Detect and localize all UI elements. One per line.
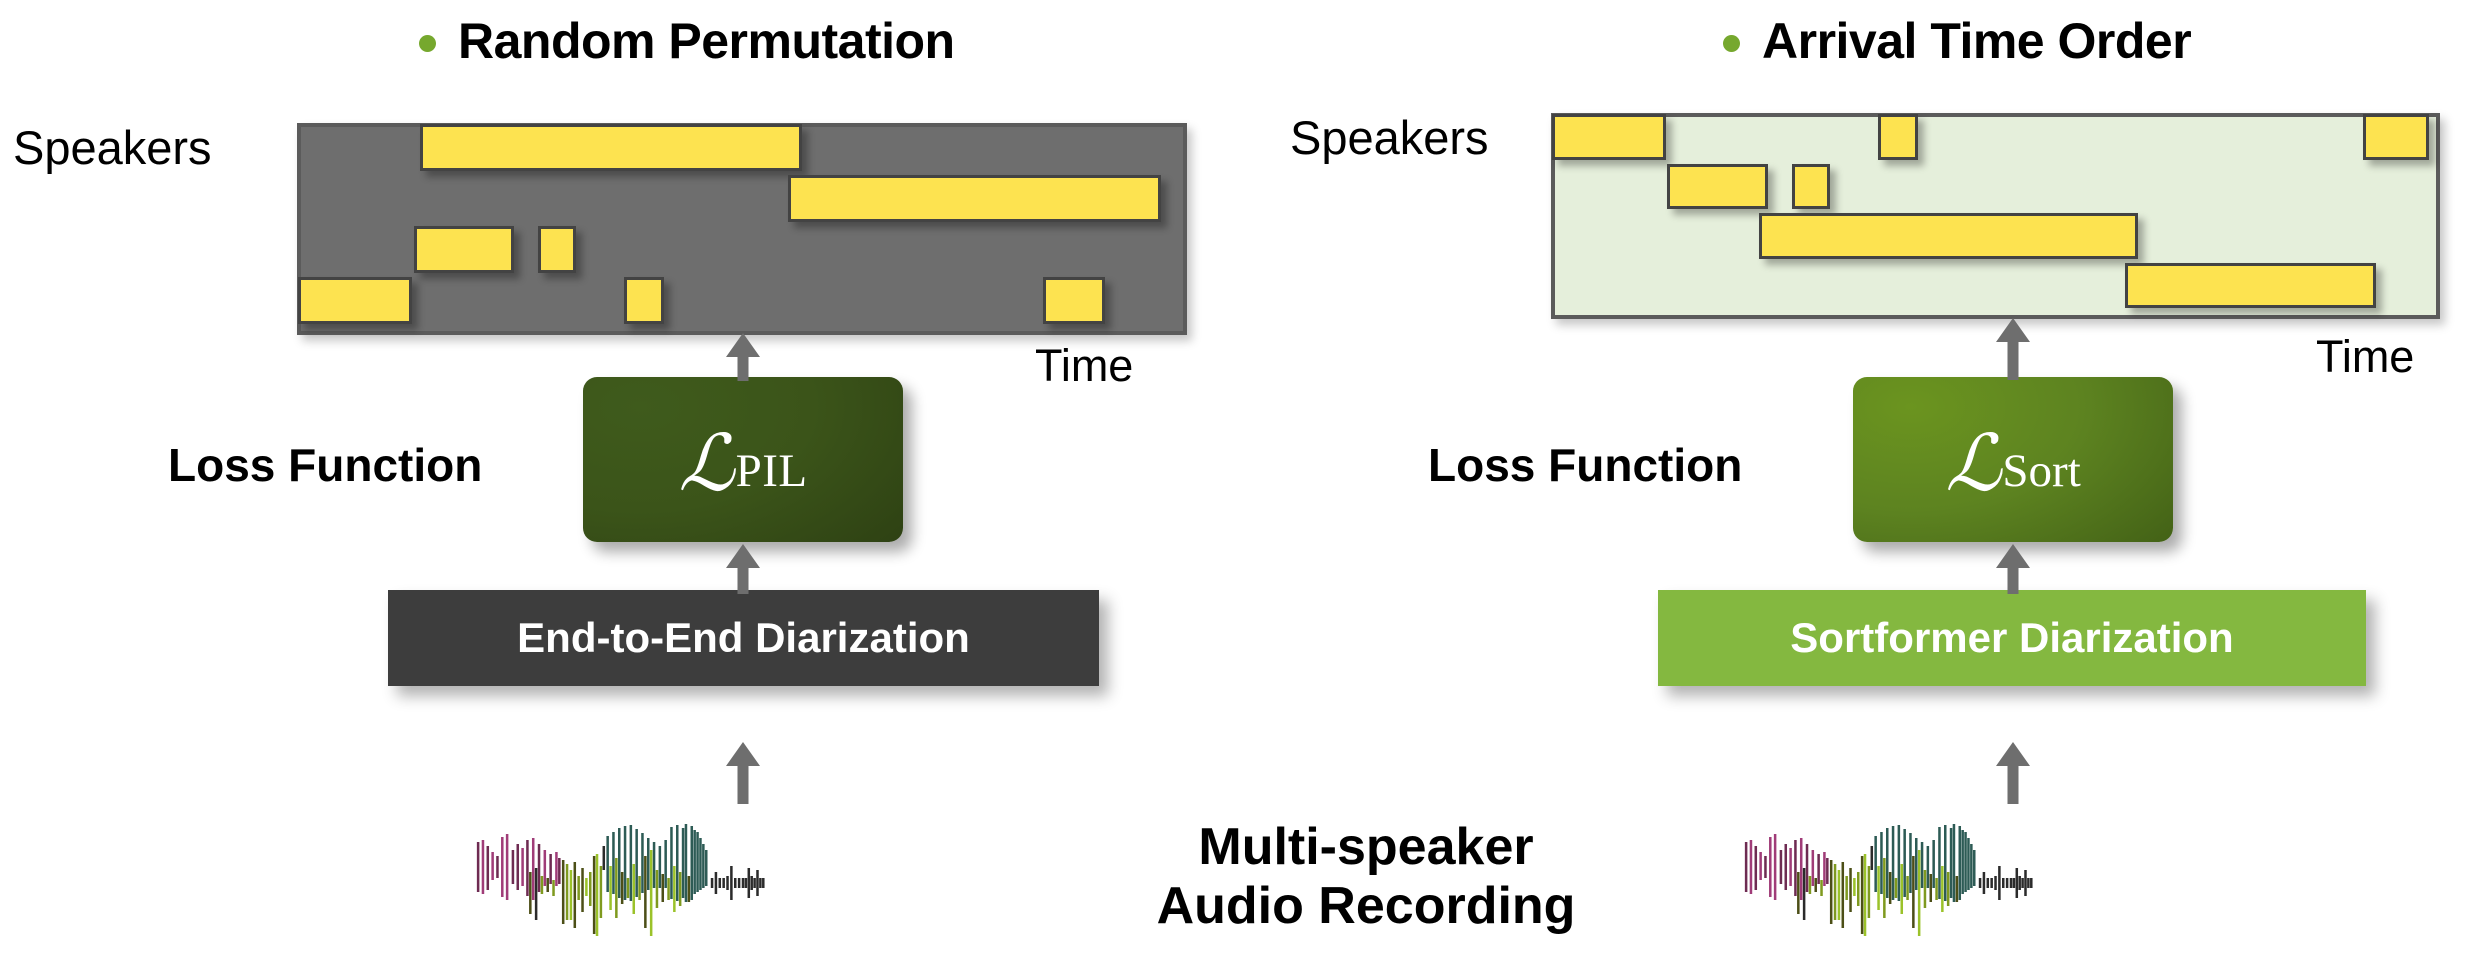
speakers-axis-label-right: Speakers [1290, 110, 1489, 165]
panel-title-left-text: Random Permutation [458, 12, 955, 70]
loss-box-pil: ℒ PIL [583, 377, 903, 542]
panel-title-right: Arrival Time Order [1723, 12, 2191, 70]
arrow-up-icon [726, 544, 760, 594]
panel-title-left: Random Permutation [419, 12, 955, 70]
diagram-canvas: Random Permutation Arrival Time Order Sp… [0, 0, 2476, 978]
loss-box-sort: ℒ Sort [1853, 377, 2173, 542]
time-axis-label-left: Time [1035, 340, 1133, 392]
audio-caption-line2: Audio Recording [1096, 877, 1636, 936]
speaker-segment [788, 175, 1161, 222]
speaker-segment [1043, 277, 1105, 324]
speaker-segment [1792, 164, 1830, 210]
bullet-dot-icon [419, 35, 436, 52]
audio-waveform-right [1741, 820, 2031, 940]
speaker-segment [2363, 114, 2429, 160]
speaker-segment [1667, 164, 1767, 210]
panel-title-right-text: Arrival Time Order [1762, 12, 2191, 70]
audio-caption: Multi-speaker Audio Recording [1096, 818, 1636, 936]
diarization-chart-random-permutation [297, 123, 1187, 335]
bullet-dot-icon [1723, 35, 1740, 52]
model-box-end-to-end-diarization: End-to-End Diarization [388, 590, 1099, 686]
time-axis-label-right: Time [2316, 331, 2414, 383]
arrow-up-icon [1996, 742, 2030, 804]
arrow-up-icon [1996, 318, 2030, 380]
speaker-segment [1552, 114, 1666, 160]
speaker-segment [624, 277, 664, 324]
loss-subscript-sort: Sort [2002, 448, 2080, 495]
loss-function-label-left: Loss Function [168, 438, 482, 492]
model-box-label: End-to-End Diarization [517, 614, 970, 662]
speaker-segment [538, 226, 576, 273]
speaker-segment [1759, 213, 2138, 259]
audio-caption-line1: Multi-speaker [1096, 818, 1636, 877]
speakers-axis-label-left: Speakers [13, 120, 212, 175]
arrow-up-icon [1996, 544, 2030, 594]
model-box-sortformer-diarization: Sortformer Diarization [1658, 590, 2366, 686]
loss-function-label-right: Loss Function [1428, 438, 1742, 492]
arrow-up-icon [726, 742, 760, 804]
diarization-chart-arrival-time-order [1551, 113, 2440, 319]
speaker-segment [1878, 114, 1918, 160]
speaker-segment [2125, 263, 2376, 309]
loss-formula-sort: ℒ Sort [1945, 421, 2081, 499]
loss-subscript-pil: PIL [736, 448, 808, 495]
speaker-segment [420, 124, 803, 171]
speaker-segment [298, 277, 412, 324]
speaker-segment [414, 226, 515, 273]
script-l-icon: ℒ [678, 425, 734, 503]
loss-formula-pil: ℒ PIL [678, 421, 807, 499]
arrow-up-icon [726, 333, 760, 381]
model-box-label: Sortformer Diarization [1790, 614, 2233, 662]
script-l-icon: ℒ [1945, 425, 2001, 503]
audio-waveform-left [473, 820, 763, 940]
